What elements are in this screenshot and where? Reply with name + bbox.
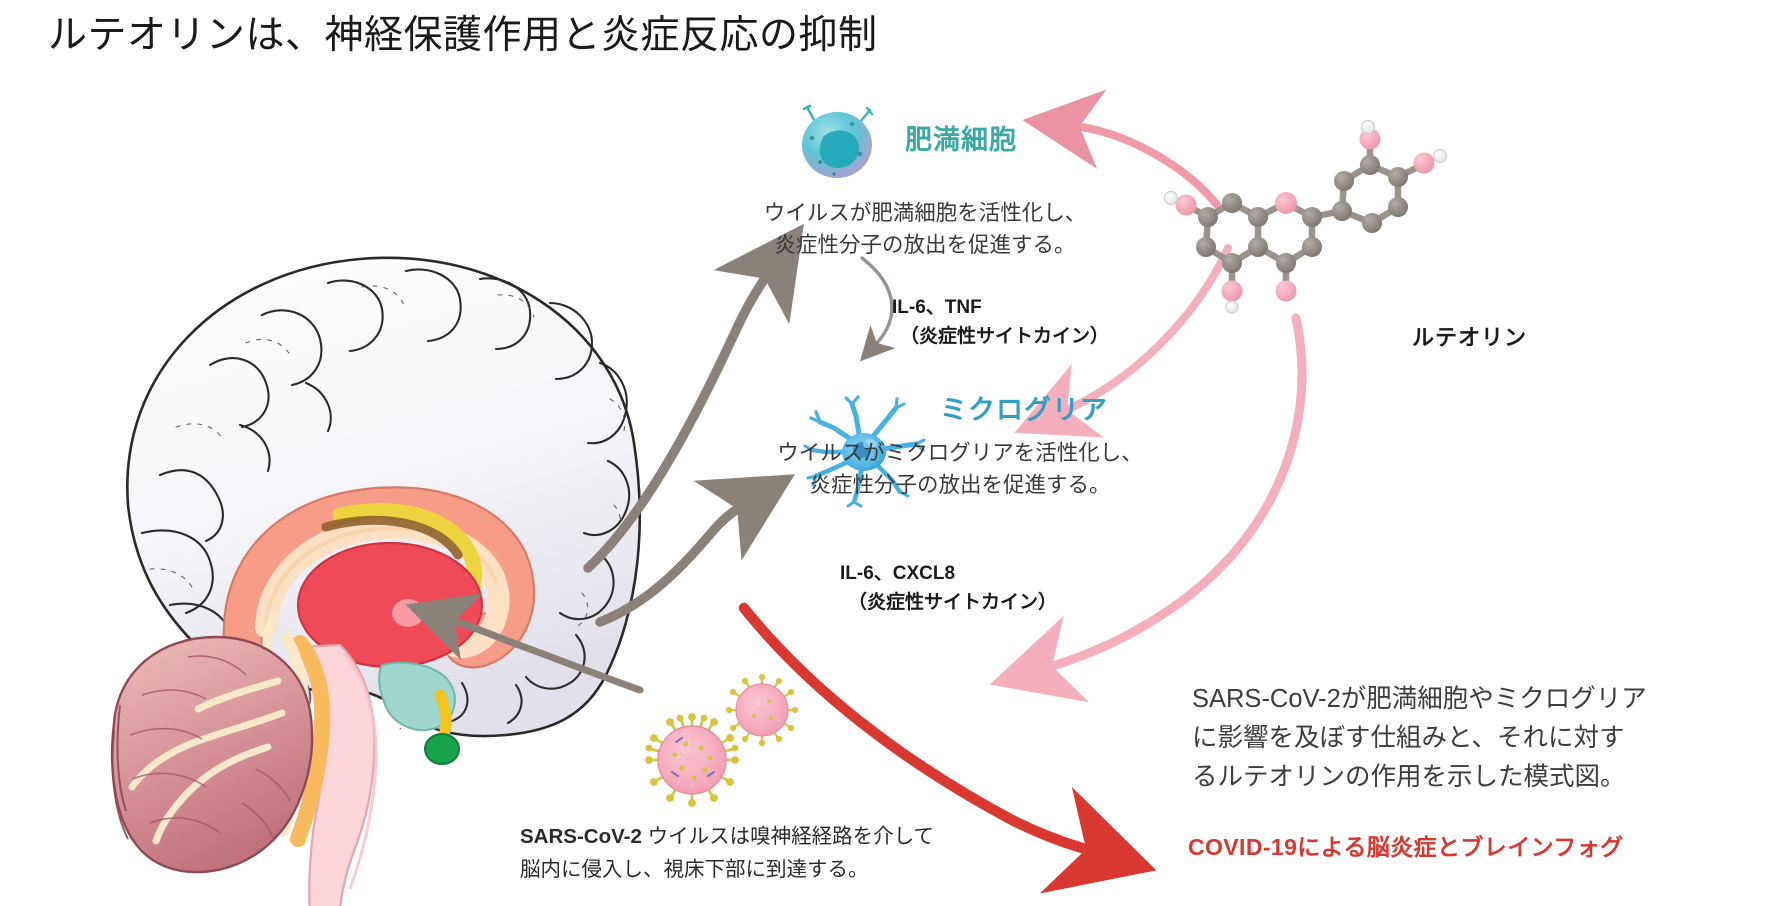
diagram-description-line1: SARS-CoV-2が肥満細胞やミクログリア bbox=[1192, 680, 1752, 719]
oxygen-atom bbox=[1414, 153, 1435, 174]
oxygen-atom bbox=[1276, 281, 1297, 302]
sars-cov-2-name: SARS-CoV-2 bbox=[520, 825, 642, 848]
page-title: ルテオリンは、神経保護作用と炎症反応の抑制 bbox=[48, 12, 1148, 61]
mast-cell-caption-line1: ウイルスが肥満細胞を活性化し、 bbox=[690, 198, 1160, 229]
mast-cell-cytokines: IL-6、TNF （炎症性サイトカイン） bbox=[892, 294, 1109, 351]
microglia-cytokines-line1: IL-6、CXCL8 bbox=[840, 563, 955, 584]
mast-cell-label: 肥満細胞 bbox=[905, 118, 1017, 157]
mast-cell-cytokines-line1: IL-6、TNF bbox=[892, 297, 982, 318]
diagram-description-line2: に影響を及ぼす仕組みと、それに対す bbox=[1192, 719, 1752, 758]
mast-cell-icon bbox=[790, 100, 886, 184]
oxygen-atom bbox=[1176, 195, 1197, 216]
virus-route-note: SARS-CoV-2 ウイルスは嗅神経経路を介して 脳内に侵入し、視床下部に到達… bbox=[520, 820, 1040, 886]
microglia-cytokines: IL-6、CXCL8 （炎症性サイトカイン） bbox=[840, 560, 1057, 617]
microglia-label: ミクログリア bbox=[940, 388, 1108, 427]
diagram-canvas: ルテオリンは、神経保護作用と炎症反応の抑制 bbox=[0, 0, 1778, 906]
gray-arrow-mast-to-microglia bbox=[862, 258, 892, 344]
oxygen-atom bbox=[1222, 281, 1243, 302]
mast-cell-caption-line2: 炎症性分子の放出を促進する。 bbox=[690, 230, 1160, 261]
luteolin-molecule-icon bbox=[1160, 125, 1490, 325]
mast-cell-cytokines-line2: （炎症性サイトカイン） bbox=[892, 323, 1109, 352]
microglia-caption-line2: 炎症性分子の放出を促進する。 bbox=[700, 470, 1220, 501]
microglia-caption-line1: ウイルスがミクログリアを活性化し、 bbox=[700, 438, 1220, 469]
brain-sagittal-icon bbox=[10, 175, 710, 805]
diagram-description-line3: るルテオリンの作用を示した模式図。 bbox=[1192, 758, 1752, 797]
sars-cov-2-virion-icon bbox=[640, 678, 830, 808]
virus-route-note-line2: 脳内に侵入し、視床下部に到達する。 bbox=[520, 853, 1040, 886]
virus-route-note-line1: SARS-CoV-2 ウイルスは嗅神経経路を介して bbox=[520, 820, 1040, 853]
microglia-cytokines-line2: （炎症性サイトカイン） bbox=[840, 589, 1057, 618]
covid-outcome-label: COVID-19による脳炎症とブレインフォグ bbox=[1188, 828, 1624, 862]
luteolin-label: ルテオリン bbox=[1412, 320, 1527, 352]
oxygen-atom bbox=[1275, 192, 1297, 214]
virus-route-note-line1-rest: ウイルスは嗅神経経路を介して bbox=[642, 825, 934, 848]
diagram-description: SARS-CoV-2が肥満細胞やミクログリア に影響を及ぼす仕組みと、それに対す… bbox=[1192, 680, 1752, 796]
